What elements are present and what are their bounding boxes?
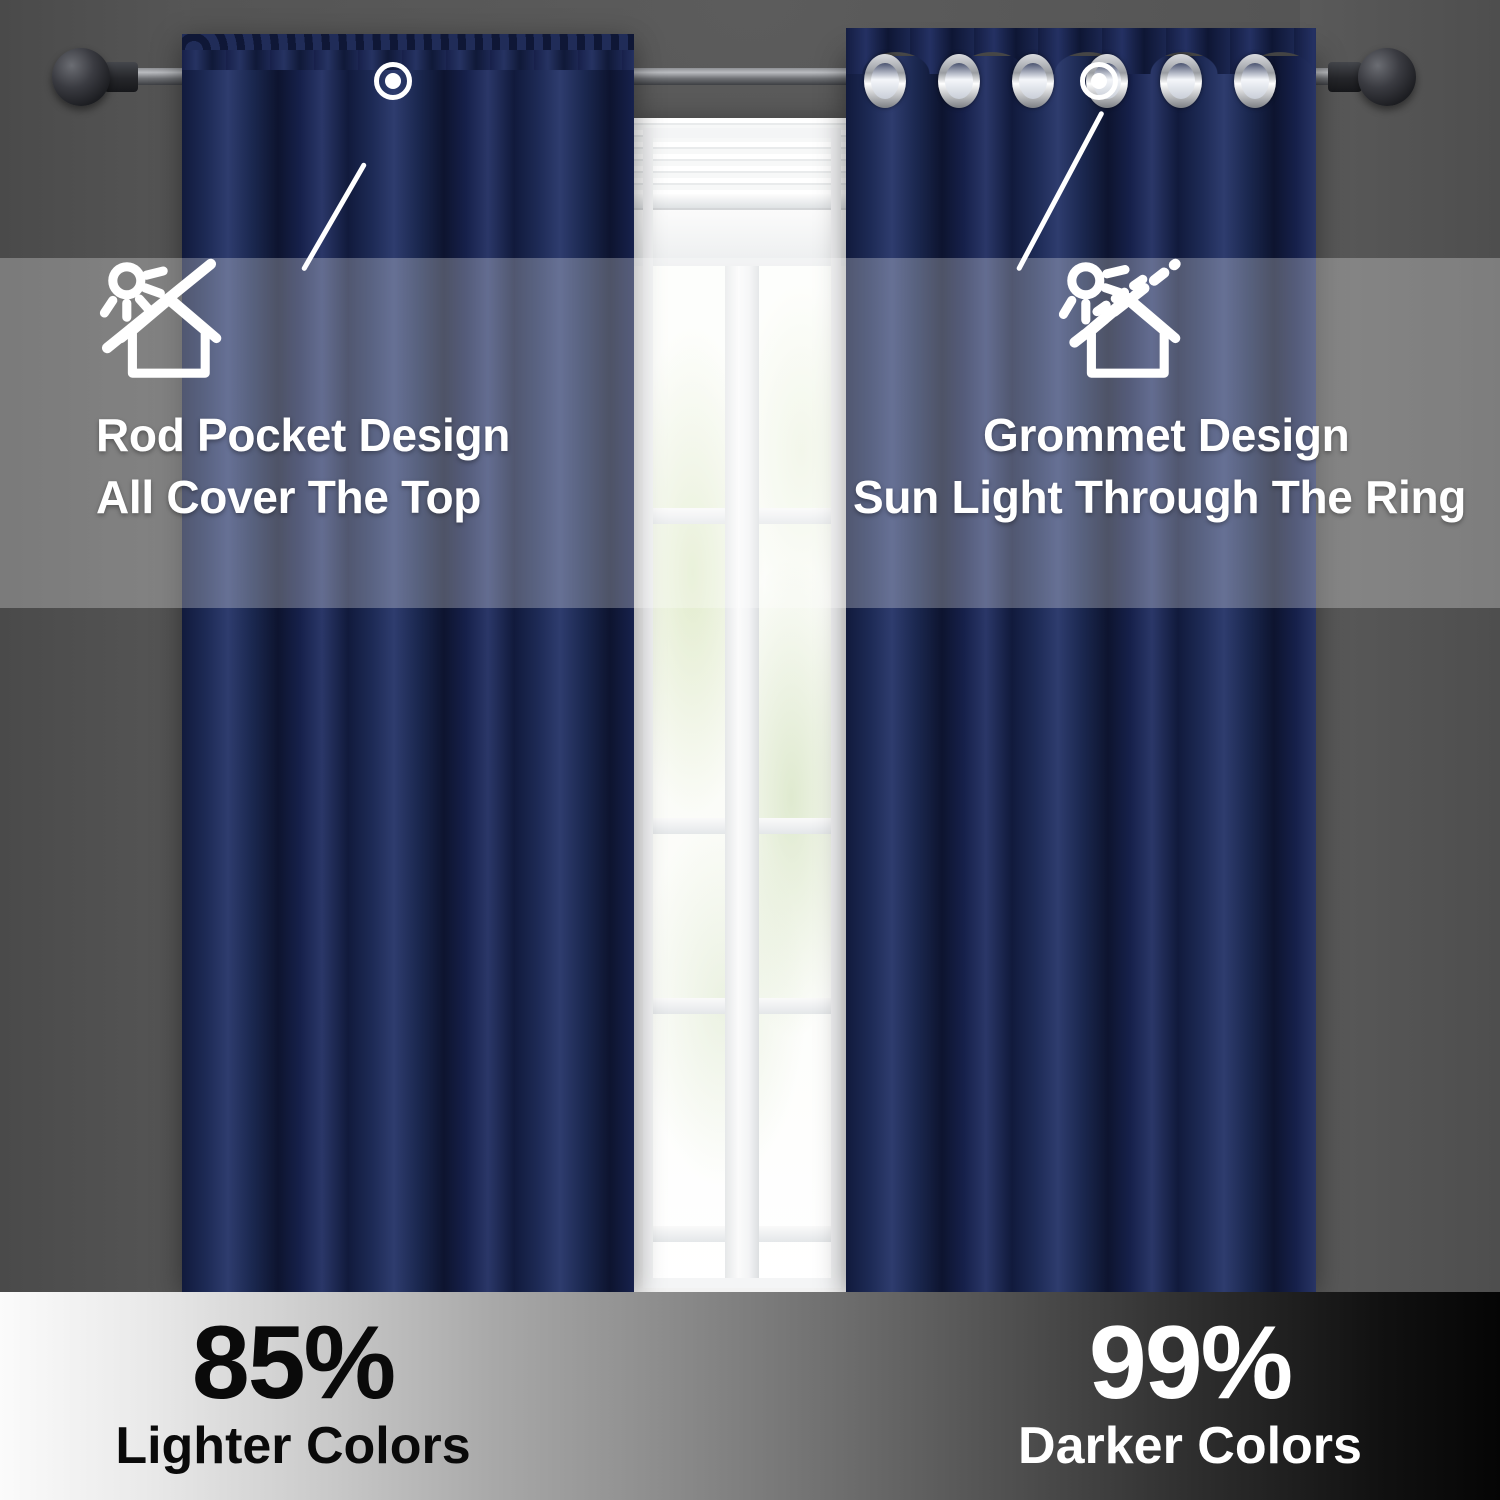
stat-percent: 99% — [975, 1310, 1405, 1416]
stat-darker-colors: 99% Darker Colors — [975, 1310, 1405, 1475]
grommet-ring — [938, 54, 980, 108]
feature-line-1: Grommet Design — [983, 404, 1500, 466]
feature-line-1: Rod Pocket Design — [96, 404, 696, 466]
feature-line-2: Sun Light Through The Ring — [853, 466, 1500, 528]
wall-shadow-right — [1300, 0, 1500, 1300]
grommet-ring — [1160, 54, 1202, 108]
callout-dot-icon — [1091, 73, 1107, 89]
rod-pocket-gather-top — [182, 34, 634, 50]
curtain-panel-grommet — [846, 56, 1316, 1298]
feature-grommet: Grommet Design Sun Light Through The Rin… — [975, 250, 1500, 528]
window-blind — [633, 118, 851, 210]
stat-label: Darker Colors — [975, 1418, 1405, 1475]
stat-bar: 85% Lighter Colors 99% Darker Colors — [0, 1292, 1500, 1500]
product-infographic: Rod Pocket Design All Cover The Top — [0, 0, 1500, 1500]
sun-house-light-through-icon — [1055, 250, 1195, 390]
feature-rod-pocket: Rod Pocket Design All Cover The Top — [96, 250, 696, 528]
feature-line-2: All Cover The Top — [96, 466, 696, 528]
rod-finial-right-icon — [1358, 48, 1416, 106]
feature-text-block: Rod Pocket Design All Cover The Top — [96, 404, 696, 528]
grommet-ring — [1234, 54, 1276, 108]
curtain-panel-rod-pocket — [182, 42, 634, 1298]
grommet-ring — [1012, 54, 1054, 108]
stat-lighter-colors: 85% Lighter Colors — [78, 1310, 508, 1475]
rod-finial-left-icon — [52, 48, 110, 106]
stat-label: Lighter Colors — [78, 1418, 508, 1475]
callout-dot-icon — [385, 73, 401, 89]
grommet-ring — [864, 54, 906, 108]
rod-neck-right — [1328, 62, 1362, 92]
feature-text-block: Grommet Design Sun Light Through The Rin… — [975, 404, 1500, 528]
wall-shadow-left — [0, 0, 190, 1300]
sun-house-blocked-icon — [96, 250, 236, 390]
stat-percent: 85% — [78, 1310, 508, 1416]
